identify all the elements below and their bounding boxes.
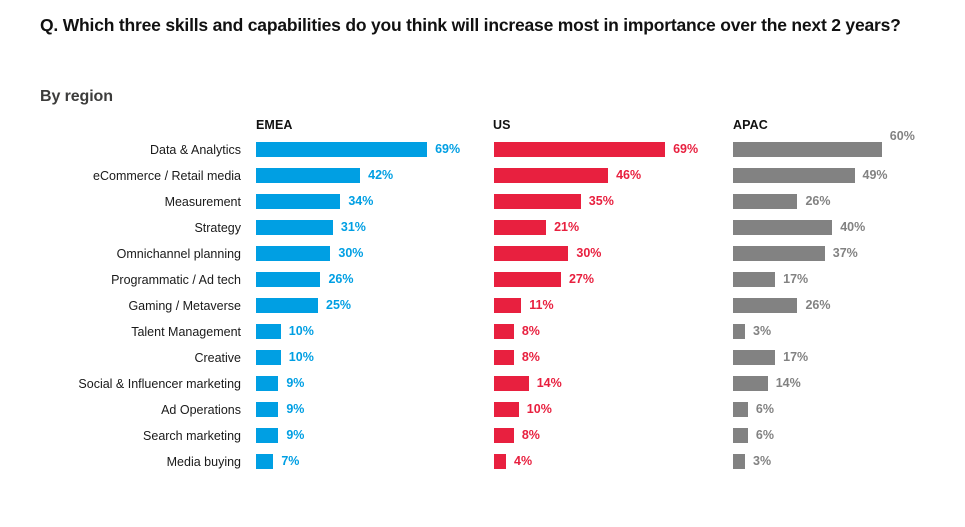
bar-value-label: 27%	[569, 272, 594, 287]
bar-value-label: 40%	[840, 220, 865, 235]
bar-value-label: 34%	[348, 194, 373, 209]
bar-value-label: 7%	[281, 454, 299, 469]
bar-us	[494, 428, 514, 443]
chart-row: Creative10%8%17%	[0, 348, 965, 374]
bar-emea	[256, 142, 427, 157]
bar-value-label: 42%	[368, 168, 393, 183]
category-label: Gaming / Metaverse	[0, 299, 241, 314]
category-label: Strategy	[0, 221, 241, 236]
bar-value-label: 8%	[522, 324, 540, 339]
bar-value-label: 3%	[753, 454, 771, 469]
category-label: Creative	[0, 351, 241, 366]
bar-apac	[733, 194, 797, 209]
bar-emea	[256, 350, 281, 365]
bar-value-label: 25%	[326, 298, 351, 313]
bar-value-label: 9%	[286, 428, 304, 443]
bar-us	[494, 298, 521, 313]
chart-row: eCommerce / Retail media42%46%49%	[0, 166, 965, 192]
bar-apac	[733, 350, 775, 365]
chart-row: Talent Management10%8%3%	[0, 322, 965, 348]
bar-value-label: 30%	[576, 246, 601, 261]
category-label: Programmatic / Ad tech	[0, 273, 241, 288]
bar-apac	[733, 376, 768, 391]
bar-apac	[733, 324, 745, 339]
bar-value-label: 37%	[833, 246, 858, 261]
bar-value-label: 35%	[589, 194, 614, 209]
bar-value-label: 8%	[522, 428, 540, 443]
bar-emea	[256, 376, 278, 391]
bar-value-label: 31%	[341, 220, 366, 235]
bar-apac	[733, 298, 797, 313]
category-label: Talent Management	[0, 325, 241, 340]
category-label: Ad Operations	[0, 403, 241, 418]
bar-value-label: 21%	[554, 220, 579, 235]
bar-apac	[733, 246, 825, 261]
bar-emea	[256, 272, 320, 287]
bar-us	[494, 376, 529, 391]
bar-us	[494, 402, 519, 417]
bar-value-label: 26%	[328, 272, 353, 287]
chart-row: Omnichannel planning30%30%37%	[0, 244, 965, 270]
bar-value-label: 49%	[863, 168, 888, 183]
bar-us	[494, 220, 546, 235]
category-label: Measurement	[0, 195, 241, 210]
bar-emea	[256, 298, 318, 313]
category-label: Search marketing	[0, 429, 241, 444]
bar-us	[494, 350, 514, 365]
bar-value-label: 17%	[783, 272, 808, 287]
category-label: Media buying	[0, 455, 241, 470]
bar-value-label: 9%	[286, 376, 304, 391]
series-header-emea: EMEA	[256, 118, 293, 132]
bar-us	[494, 142, 665, 157]
bar-value-label: 60%	[890, 129, 915, 144]
bar-value-label: 69%	[673, 142, 698, 157]
bar-value-label: 14%	[537, 376, 562, 391]
bar-emea	[256, 402, 278, 417]
chart-row: Gaming / Metaverse25%11%26%	[0, 296, 965, 322]
chart-row: Media buying7%4%3%	[0, 452, 965, 478]
bar-us	[494, 246, 568, 261]
bar-emea	[256, 324, 281, 339]
chart-container: Q. Which three skills and capabilities d…	[0, 0, 965, 527]
bar-value-label: 69%	[435, 142, 460, 157]
category-label: Social & Influencer marketing	[0, 377, 241, 392]
bar-value-label: 26%	[805, 298, 830, 313]
bar-us	[494, 454, 506, 469]
chart-row: Measurement34%35%26%	[0, 192, 965, 218]
bar-apac	[733, 142, 882, 157]
bar-value-label: 8%	[522, 350, 540, 365]
bar-value-label: 3%	[753, 324, 771, 339]
bar-value-label: 30%	[338, 246, 363, 261]
chart-row: Strategy31%21%40%	[0, 218, 965, 244]
bar-us	[494, 168, 608, 183]
bar-emea	[256, 454, 273, 469]
bar-us	[494, 324, 514, 339]
bar-value-label: 46%	[616, 168, 641, 183]
category-label: Omnichannel planning	[0, 247, 241, 262]
bar-emea	[256, 246, 330, 261]
bar-value-label: 10%	[289, 324, 314, 339]
bar-us	[494, 194, 581, 209]
chart-row: Search marketing9%8%6%	[0, 426, 965, 452]
chart-row: Data & Analytics69%69%60%	[0, 140, 965, 166]
bar-apac	[733, 168, 855, 183]
bar-value-label: 10%	[527, 402, 552, 417]
bar-emea	[256, 168, 360, 183]
chart-row: Social & Influencer marketing9%14%14%	[0, 374, 965, 400]
bar-emea	[256, 220, 333, 235]
bar-value-label: 6%	[756, 428, 774, 443]
bar-apac	[733, 428, 748, 443]
chart-row: Ad Operations9%10%6%	[0, 400, 965, 426]
bar-value-label: 4%	[514, 454, 532, 469]
bar-emea	[256, 428, 278, 443]
bar-value-label: 10%	[289, 350, 314, 365]
bar-value-label: 11%	[529, 298, 553, 313]
page-title: Q. Which three skills and capabilities d…	[40, 13, 930, 37]
bar-value-label: 9%	[286, 402, 304, 417]
bar-value-label: 26%	[805, 194, 830, 209]
bar-apac	[733, 402, 748, 417]
category-label: Data & Analytics	[0, 143, 241, 158]
chart-subtitle: By region	[40, 88, 113, 106]
bar-emea	[256, 194, 340, 209]
bar-apac	[733, 454, 745, 469]
category-label: eCommerce / Retail media	[0, 169, 241, 184]
chart-row: Programmatic / Ad tech26%27%17%	[0, 270, 965, 296]
bar-value-label: 6%	[756, 402, 774, 417]
bar-apac	[733, 272, 775, 287]
bar-us	[494, 272, 561, 287]
series-header-apac: APAC	[733, 118, 768, 132]
bar-value-label: 17%	[783, 350, 808, 365]
bar-chart-plot: Data & Analytics69%69%60%eCommerce / Ret…	[0, 140, 965, 478]
bar-apac	[733, 220, 832, 235]
series-header-us: US	[493, 118, 511, 132]
bar-value-label: 14%	[776, 376, 801, 391]
